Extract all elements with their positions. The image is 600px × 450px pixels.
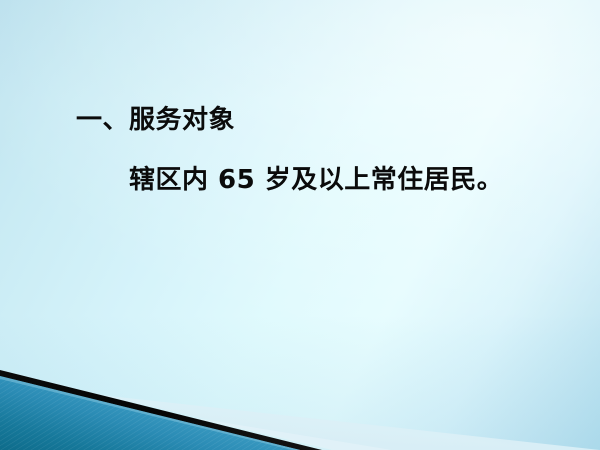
slide-canvas: 一、服务对象 辖区内 65 岁及以上常住居民。 [0, 0, 600, 450]
slide-body-text: 辖区内 65 岁及以上常住居民。 [129, 165, 503, 195]
slide-heading: 一、服务对象 [76, 105, 235, 135]
slide-text-layer: 一、服务对象 辖区内 65 岁及以上常住居民。 [0, 0, 600, 450]
